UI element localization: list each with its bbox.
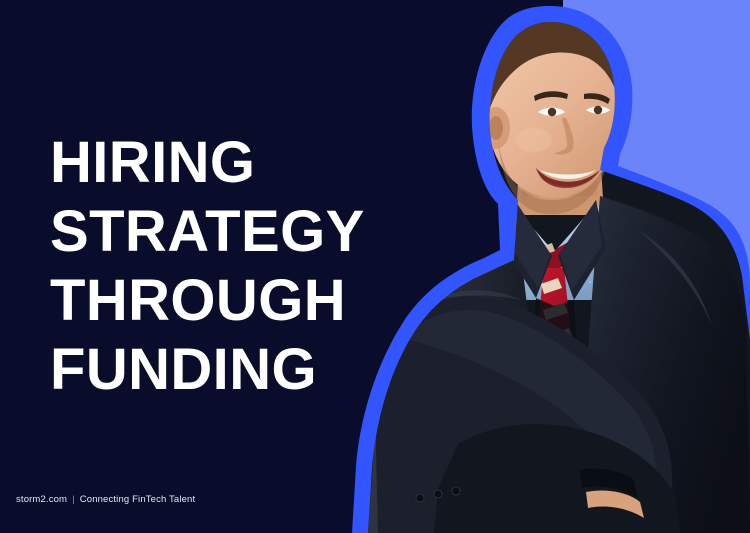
page-title: HIRING STRATEGY THROUGH FUNDING: [50, 128, 380, 404]
headline-line-1: HIRING: [50, 128, 380, 197]
footer-tagline: Connecting FinTech Talent: [80, 494, 196, 505]
hero-photo: [338, 0, 750, 533]
slide-canvas: HIRING STRATEGY THROUGH FUNDING storm2.c…: [0, 0, 750, 533]
headline-line-2: STRATEGY: [50, 197, 380, 266]
person-body: [338, 0, 750, 533]
footer: storm2.com | Connecting FinTech Talent: [16, 494, 195, 505]
footer-site[interactable]: storm2.com: [16, 494, 67, 505]
headline-line-3: THROUGH: [50, 266, 380, 335]
footer-separator: |: [72, 494, 75, 505]
headline-line-4: FUNDING: [50, 335, 380, 404]
person-illustration: [338, 0, 750, 533]
